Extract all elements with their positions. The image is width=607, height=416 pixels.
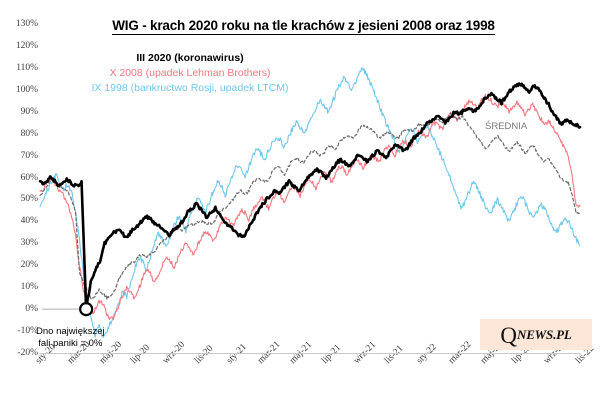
y-axis-tick-80pct: 80% bbox=[4, 129, 38, 139]
chart-container: WIG - krach 2020 roku na tle krachów z j… bbox=[0, 0, 607, 416]
series-line-1998 bbox=[40, 68, 580, 337]
y-axis-tick-neg20pct: -20% bbox=[4, 348, 38, 358]
legend-item-2020: III 2020 (koronawirus) bbox=[40, 51, 340, 66]
annotation-panic-line2: fali paniki = 0% bbox=[36, 338, 105, 350]
y-axis-tick-50pct: 50% bbox=[4, 194, 38, 204]
logo-q-mark: Q bbox=[500, 324, 517, 347]
legend-item-2008: X 2008 (upadek Lehman Brothers) bbox=[40, 66, 340, 81]
chart-title: WIG - krach 2020 roku na tle krachów z j… bbox=[0, 18, 607, 33]
annotation-panic-line1: Dno największej bbox=[36, 326, 105, 338]
series-line-2020 bbox=[40, 83, 580, 310]
logo-text: NEWS.PL bbox=[517, 327, 572, 343]
y-axis-tick-120pct: 120% bbox=[4, 41, 38, 51]
zero-point-marker bbox=[80, 303, 92, 315]
chart-legend: III 2020 (koronawirus) X 2008 (upadek Le… bbox=[40, 51, 340, 96]
y-axis-tick-110pct: 110% bbox=[4, 63, 38, 73]
legend-item-1998: IX 1998 (bankructwo Rosji, upadek LTCM) bbox=[40, 81, 340, 96]
qnews-logo: QNEWS.PL bbox=[480, 319, 592, 350]
annotation-average-label: ŚREDNIA bbox=[485, 121, 527, 132]
series-line-average bbox=[40, 113, 580, 299]
y-axis-tick-130pct: 130% bbox=[4, 19, 38, 29]
y-axis-tick-100pct: 100% bbox=[4, 85, 38, 95]
x-axis-line bbox=[40, 353, 580, 354]
y-axis-tick-30pct: 30% bbox=[4, 238, 38, 248]
chart-title-text: WIG - krach 2020 roku na tle krachów z j… bbox=[112, 18, 494, 35]
y-axis-tick-10pct: 10% bbox=[4, 282, 38, 292]
y-axis-tick-20pct: 20% bbox=[4, 260, 38, 270]
y-axis-tick-60pct: 60% bbox=[4, 173, 38, 183]
y-axis-tick-90pct: 90% bbox=[4, 107, 38, 117]
y-axis-tick-neg10pct: -10% bbox=[4, 326, 38, 336]
y-axis-tick-40pct: 40% bbox=[4, 216, 38, 226]
annotation-panic-bottom: Dno największej fali paniki = 0% bbox=[36, 326, 105, 350]
y-axis-tick-70pct: 70% bbox=[4, 151, 38, 161]
y-axis-labels: 130%120%110%100%90%80%70%60%50%40%30%20%… bbox=[0, 0, 38, 416]
y-axis-tick-0pct: 0% bbox=[4, 304, 38, 314]
